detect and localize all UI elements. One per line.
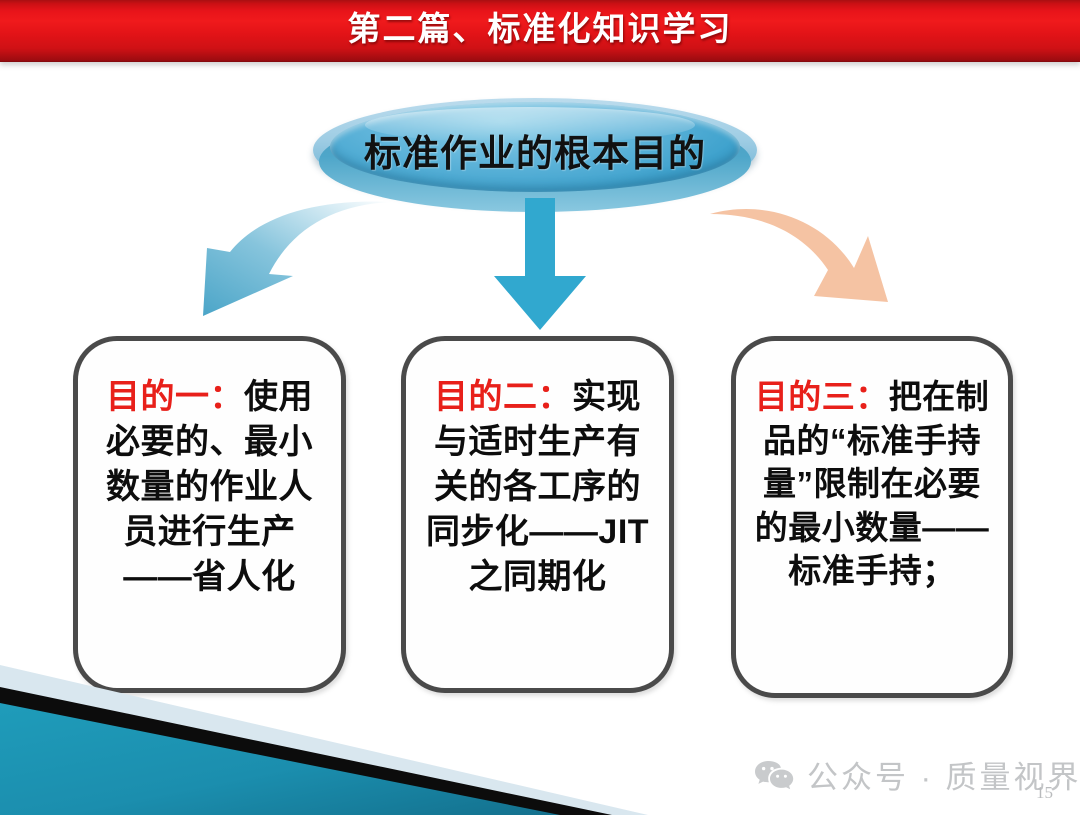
- page-title: 第二篇、标准化知识学习: [0, 0, 1080, 62]
- goal-box-2-text: 目的二：实现与适时生产有关的各工序的同步化——JIT之同期化: [424, 375, 651, 599]
- watermark: 公众号 · 质量视界: [755, 752, 1080, 797]
- curved-arrow-right-icon: [702, 192, 902, 324]
- straight-arrow-center-icon: [474, 198, 606, 330]
- header-banner: 第二篇、标准化知识学习: [0, 0, 1080, 62]
- goal-box-3-tag: 目的三：: [755, 378, 889, 415]
- goal-box-3[interactable]: 目的三：把在制品的“标准手持量”限制在必要的最小数量——标准手持；: [731, 336, 1013, 698]
- root-node-label: 标准作业的根本目的: [313, 98, 757, 202]
- goal-box-2-tag: 目的二：: [434, 378, 572, 416]
- curved-arrow-left-icon: [183, 196, 398, 316]
- slide-canvas: 第二篇、标准化知识学习 标准作业的根本目的 目的一：使用必要的、最小数量的作业人: [0, 0, 1080, 815]
- wechat-icon: [755, 759, 795, 791]
- goal-box-3-text: 目的三：把在制品的“标准手持量”限制在必要的最小数量——标准手持；: [754, 375, 990, 593]
- page-number: 15: [1036, 783, 1053, 803]
- goal-box-1-text: 目的一：使用必要的、最小数量的作业人员进行生产——省人化: [96, 375, 323, 599]
- goal-box-1-tag: 目的一：: [106, 378, 244, 416]
- diagonal-wedge-decoration: [0, 635, 700, 815]
